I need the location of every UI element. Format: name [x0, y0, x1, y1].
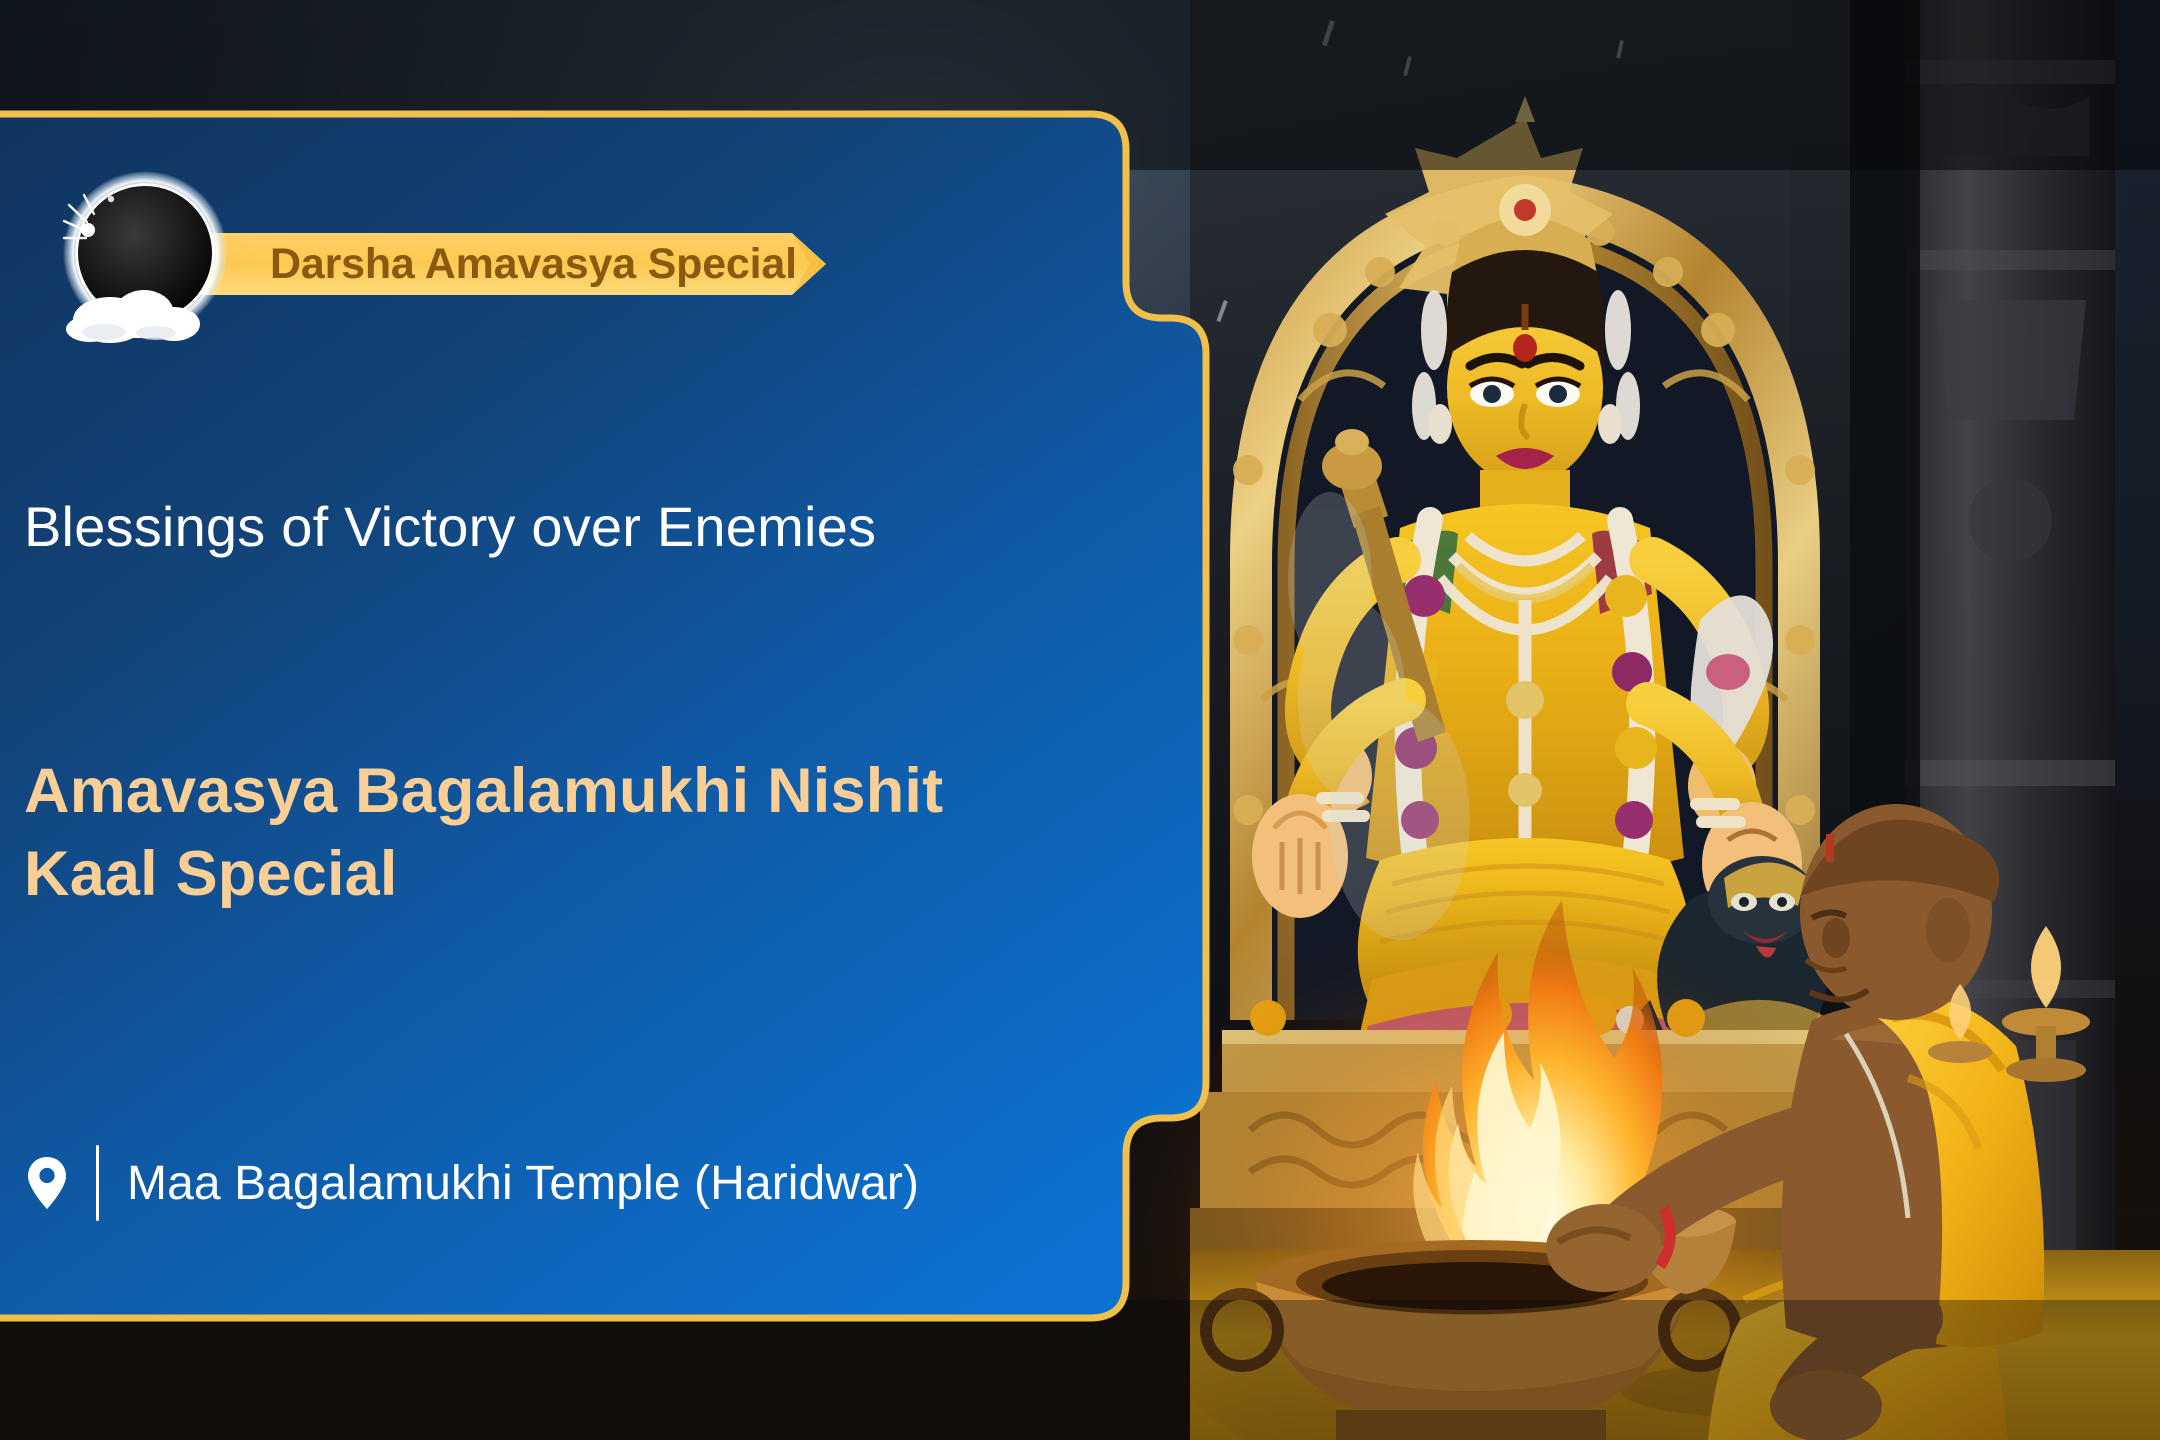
badge-ribbon: Darsha Amavasya Special — [188, 221, 907, 307]
location-row: Maa Bagalamukhi Temple (Haridwar) — [24, 1145, 919, 1221]
location-divider — [96, 1145, 99, 1221]
info-card: Darsha Amavasya Special Blessings of Vic… — [0, 110, 1230, 1325]
subheading: Blessings of Victory over Enemies — [24, 492, 924, 563]
map-pin-icon — [24, 1155, 70, 1211]
badge-label: Darsha Amavasya Special — [188, 221, 907, 307]
promo-banner: Darsha Amavasya Special Blessings of Vic… — [0, 0, 2160, 1440]
location-text: Maa Bagalamukhi Temple (Haridwar) — [127, 1156, 919, 1211]
badge-row: Darsha Amavasya Special — [0, 140, 907, 358]
page-title: Amavasya Bagalamukhi Nishit Kaal Special — [24, 750, 1084, 916]
solar-eclipse-with-cloud-icon — [50, 168, 240, 358]
